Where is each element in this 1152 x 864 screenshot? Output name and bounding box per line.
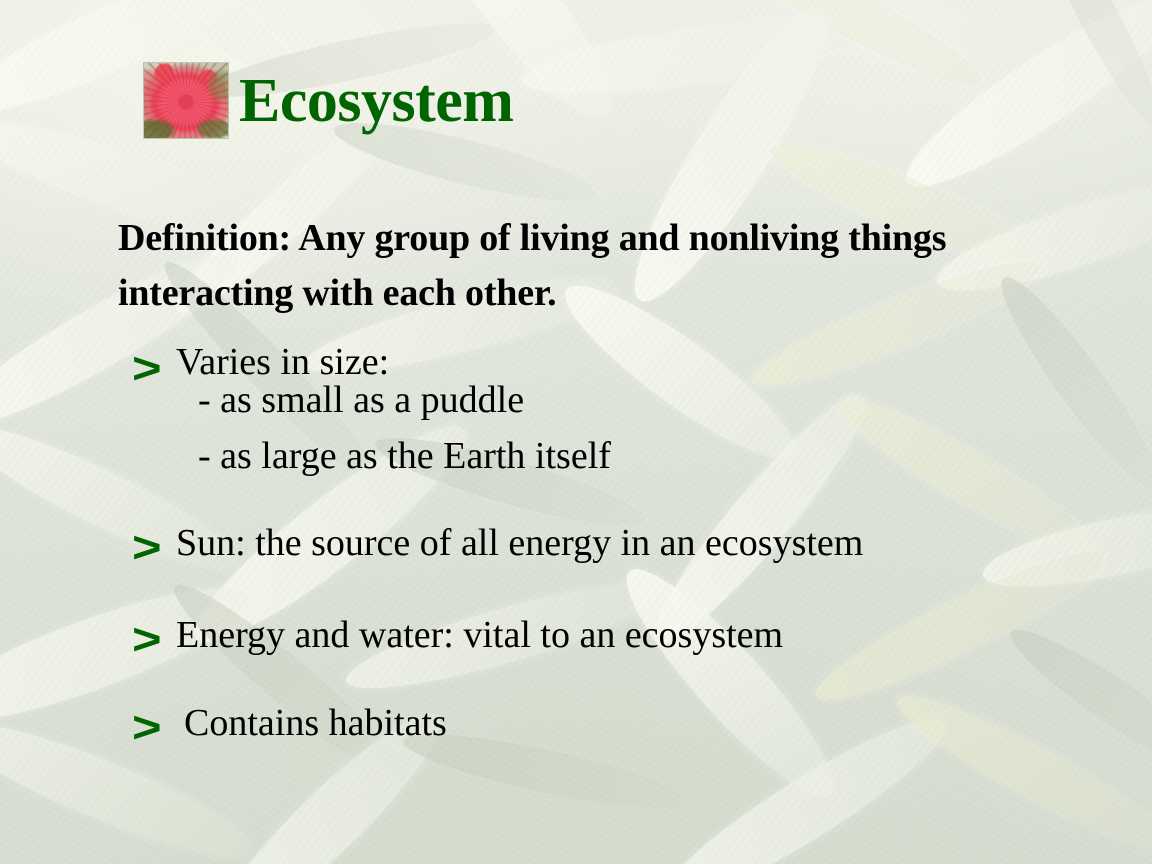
- page-title: Ecosystem: [239, 70, 513, 132]
- list-item: > Contains habitats: [132, 704, 1132, 748]
- chevron-right-bullet-icon: >: [132, 347, 183, 391]
- list-item: > Varies in size: - as small as a puddle…: [132, 343, 1132, 475]
- list-sub-item: - as small as a puddle: [198, 381, 1132, 419]
- list-item-label: Varies in size:: [176, 343, 1132, 381]
- list-item-label: Energy and water: vital to an ecosystem: [176, 616, 1132, 654]
- presentation-slide: Ecosystem Definition: Any group of livin…: [0, 0, 1152, 864]
- list-item-body: Energy and water: vital to an ecosystem: [176, 616, 1132, 654]
- chevron-right-bullet-icon: >: [132, 618, 183, 662]
- list-item-body: Sun: the source of all energy in an ecos…: [176, 524, 1132, 562]
- list-sub-item: - as large as the Earth itself: [198, 437, 1132, 475]
- list-item-label: Sun: the source of all energy in an ecos…: [176, 524, 1132, 562]
- slide-title-row: Ecosystem: [143, 62, 513, 139]
- list-item: > Energy and water: vital to an ecosyste…: [132, 616, 1132, 660]
- carnation-flower-icon: [143, 62, 229, 139]
- list-item-body: Contains habitats: [176, 704, 1132, 742]
- slide-content: Ecosystem Definition: Any group of livin…: [0, 0, 1152, 864]
- list-item-label: Contains habitats: [184, 704, 1132, 742]
- list-item: > Sun: the source of all energy in an ec…: [132, 524, 1132, 568]
- definition-text: Definition: Any group of living and nonl…: [118, 211, 1078, 322]
- chevron-right-bullet-icon: >: [132, 526, 183, 570]
- bullet-list: > Varies in size: - as small as a puddle…: [132, 343, 1132, 748]
- chevron-right-bullet-icon: >: [132, 706, 183, 750]
- list-item-body: Varies in size: - as small as a puddle -…: [176, 343, 1132, 475]
